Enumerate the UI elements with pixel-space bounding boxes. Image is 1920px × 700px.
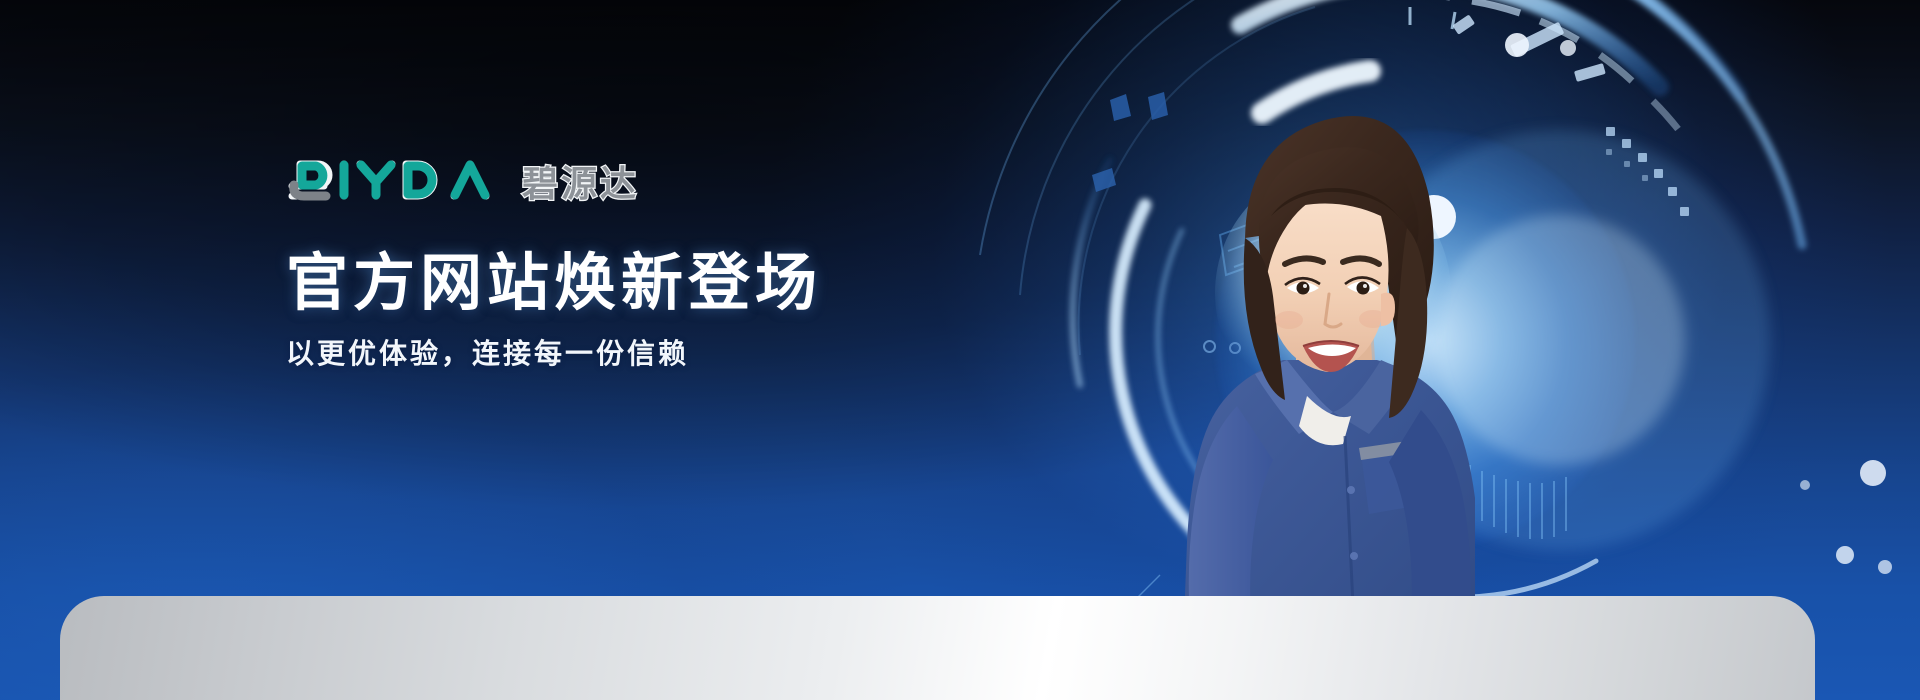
biyda-wordmark-icon: .ol { fill:none; stroke:#f2f5f7; stroke-…	[286, 154, 508, 206]
brand-chinese-name: 碧源达	[522, 167, 639, 203]
hero-banner: .ol { fill:none; stroke:#f2f5f7; stroke-…	[0, 0, 1920, 700]
hero-content: .ol { fill:none; stroke:#f2f5f7; stroke-…	[286, 150, 1046, 371]
bottom-light-panel	[60, 596, 1815, 700]
brand-logo[interactable]: .ol { fill:none; stroke:#f2f5f7; stroke-…	[286, 150, 1046, 206]
page-title: 官方网站焕新登场	[286, 250, 1046, 315]
page-subtitle: 以更优体验，连接每一份信赖	[286, 337, 1046, 371]
